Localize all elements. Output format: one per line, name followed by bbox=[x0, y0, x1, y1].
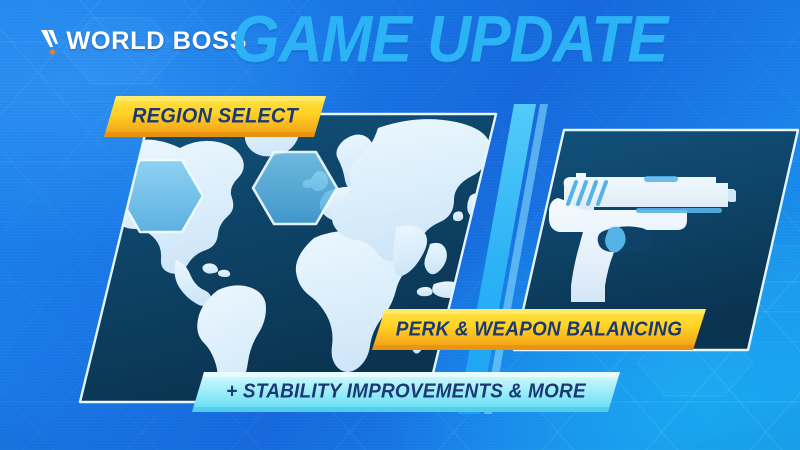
banner-region-select-label: REGION SELECT bbox=[132, 104, 298, 128]
header: WORLD BOSS GAME UPDATE bbox=[0, 0, 800, 86]
banner-perk-weapon-label: PERK & WEAPON BALANCING bbox=[396, 318, 682, 341]
banner-perk-weapon-balancing[interactable]: PERK & WEAPON BALANCING bbox=[372, 309, 706, 350]
region-select-map-panel[interactable] bbox=[78, 112, 498, 404]
banner-stability-label: + STABILITY IMPROVEMENTS & MORE bbox=[226, 380, 586, 403]
world-boss-logo[interactable]: WORLD BOSS bbox=[40, 24, 245, 58]
world-map-graphic bbox=[78, 112, 498, 404]
banner-stability-improvements[interactable]: + STABILITY IMPROVEMENTS & MORE bbox=[192, 372, 620, 412]
page-title: GAME UPDATE bbox=[232, 0, 667, 85]
banner-region-select[interactable]: REGION SELECT bbox=[104, 96, 326, 137]
logo-accent-dot bbox=[50, 49, 55, 54]
world-boss-logo-text: WORLD BOSS bbox=[66, 26, 247, 56]
